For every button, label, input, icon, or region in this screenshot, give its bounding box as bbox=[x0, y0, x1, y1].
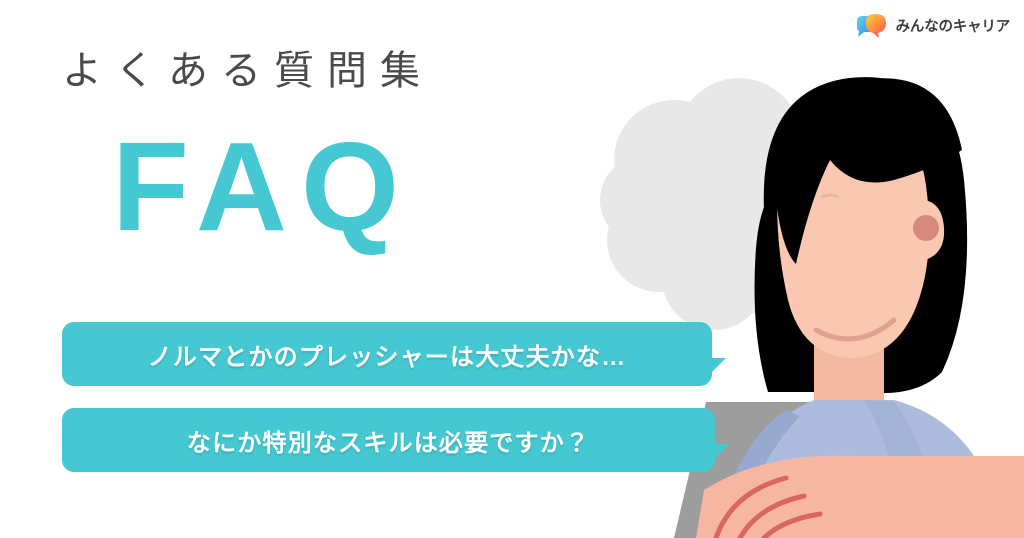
page-title-jp: よくある質問集 bbox=[62, 38, 433, 96]
speech-bubble-1-tail bbox=[704, 358, 726, 380]
speech-bubble-2[interactable]: なにか特別なスキルは必要ですか？ bbox=[62, 408, 715, 472]
speech-bubble-2-tail bbox=[707, 444, 729, 466]
speech-bubble-1[interactable]: ノルマとかのプレッシャーは大丈夫かな… bbox=[62, 322, 712, 386]
page-title-faq: FAQ bbox=[112, 124, 413, 250]
speech-bubble-1-text: ノルマとかのプレッシャーは大丈夫かな… bbox=[148, 337, 627, 372]
speech-bubble-2-text: なにか特別なスキルは必要ですか？ bbox=[187, 423, 590, 458]
faq-banner: みんなのキャリア よくある質問集 FAQ ノルマとかのプレッシャーは大丈夫かな…… bbox=[0, 0, 1024, 538]
